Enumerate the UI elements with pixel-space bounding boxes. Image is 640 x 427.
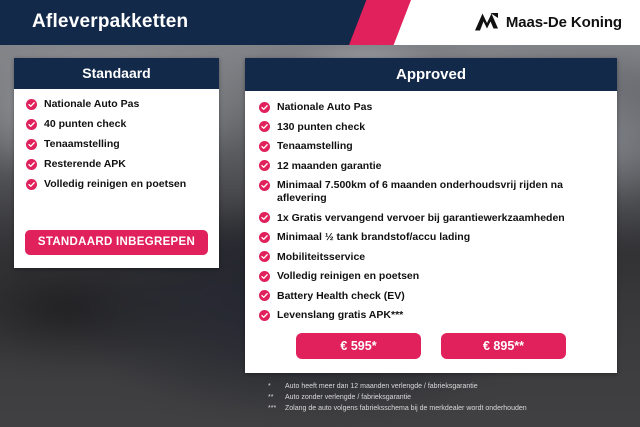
feature-label: 130 punten check	[277, 121, 365, 134]
feature-label: Nationale Auto Pas	[277, 101, 372, 114]
check-circle-icon	[259, 271, 270, 282]
footnotes: * Auto heeft meer dan 12 maanden verleng…	[268, 381, 638, 414]
card-standaard: Standaard Nationale Auto Pas 40 punten c…	[14, 58, 219, 268]
list-item: Resterende APK	[26, 158, 207, 171]
price-button-row: € 595* € 895**	[245, 333, 617, 359]
card-standaard-body: Nationale Auto Pas 40 punten check Tenaa…	[14, 89, 219, 191]
list-item: Tenaamstelling	[259, 140, 605, 153]
list-item: 130 punten check	[259, 121, 605, 134]
footnote-text: Auto heeft meer dan 12 maanden verlengde…	[285, 381, 478, 392]
check-circle-icon	[259, 160, 270, 171]
approved-feature-list: Nationale Auto Pas 130 punten check Tena…	[259, 101, 605, 322]
footnote-text: Auto zonder verlengde / fabrieksgarantie	[285, 392, 411, 403]
check-circle-icon	[259, 141, 270, 152]
card-standaard-title: Standaard	[14, 58, 219, 89]
feature-label: Minimaal ½ tank brandstof/accu lading	[277, 231, 470, 244]
footnote-marker: **	[268, 392, 285, 403]
standaard-feature-list: Nationale Auto Pas 40 punten check Tenaa…	[26, 98, 207, 191]
card-approved: Approved Nationale Auto Pas 130 punten c…	[245, 58, 617, 373]
card-approved-title: Approved	[245, 58, 617, 91]
check-circle-icon	[259, 212, 270, 223]
page-header: Afleverpakketten Maas-De Koning	[0, 0, 640, 45]
check-circle-icon	[26, 119, 37, 130]
check-circle-icon	[259, 290, 270, 301]
check-circle-icon	[259, 121, 270, 132]
feature-label: 12 maanden garantie	[277, 160, 381, 173]
feature-label: Minimaal 7.500km of 6 maanden onderhouds…	[277, 179, 605, 205]
feature-label: Battery Health check (EV)	[277, 290, 405, 303]
footnote-text: Zolang de auto volgens fabrieksschema bi…	[285, 403, 527, 414]
card-approved-body: Nationale Auto Pas 130 punten check Tena…	[245, 91, 617, 322]
page-title: Afleverpakketten	[32, 9, 188, 35]
brand-logo: Maas-De Koning	[474, 0, 622, 45]
footnote-3: *** Zolang de auto volgens fabrieksschem…	[268, 403, 638, 414]
list-item: Tenaamstelling	[26, 138, 207, 151]
list-item: 12 maanden garantie	[259, 160, 605, 173]
feature-label: Tenaamstelling	[44, 138, 120, 151]
feature-label: Resterende APK	[44, 158, 126, 171]
footnote-marker: *	[268, 381, 285, 392]
feature-label: Volledig reinigen en poetsen	[44, 178, 186, 191]
check-circle-icon	[259, 251, 270, 262]
price-button-595[interactable]: € 595*	[296, 333, 421, 359]
check-circle-icon	[26, 99, 37, 110]
footnote-1: * Auto heeft meer dan 12 maanden verleng…	[268, 381, 638, 392]
footnote-2: ** Auto zonder verlengde / fabrieksgaran…	[268, 392, 638, 403]
list-item: Battery Health check (EV)	[259, 290, 605, 303]
list-item: Minimaal 7.500km of 6 maanden onderhouds…	[259, 179, 605, 205]
feature-label: Volledig reinigen en poetsen	[277, 270, 419, 283]
list-item: Mobiliteitsservice	[259, 251, 605, 264]
list-item: Volledig reinigen en poetsen	[259, 270, 605, 283]
check-circle-icon	[26, 159, 37, 170]
list-item: 1x Gratis vervangend vervoer bij garanti…	[259, 212, 605, 225]
feature-label: Mobiliteitsservice	[277, 251, 365, 264]
list-item: Nationale Auto Pas	[26, 98, 207, 111]
brand-name: Maas-De Koning	[506, 14, 622, 31]
feature-label: 40 punten check	[44, 118, 126, 131]
check-circle-icon	[259, 180, 270, 191]
check-circle-icon	[259, 102, 270, 113]
list-item: Nationale Auto Pas	[259, 101, 605, 114]
feature-label: 1x Gratis vervangend vervoer bij garanti…	[277, 212, 565, 225]
list-item: Levenslang gratis APK***	[259, 309, 605, 322]
check-circle-icon	[259, 232, 270, 243]
check-circle-icon	[26, 179, 37, 190]
check-circle-icon	[26, 139, 37, 150]
feature-label: Nationale Auto Pas	[44, 98, 139, 111]
list-item: Volledig reinigen en poetsen	[26, 178, 207, 191]
check-circle-icon	[259, 310, 270, 321]
footnote-marker: ***	[268, 403, 285, 414]
afleverpakketten-page: Afleverpakketten Maas-De Koning Standaar…	[0, 0, 640, 427]
standaard-inbegrepen-button[interactable]: STANDAARD INBEGREPEN	[25, 230, 208, 255]
list-item: 40 punten check	[26, 118, 207, 131]
price-button-895[interactable]: € 895**	[441, 333, 566, 359]
list-item: Minimaal ½ tank brandstof/accu lading	[259, 231, 605, 244]
maas-de-koning-m-logo-icon	[474, 12, 499, 33]
feature-label: Tenaamstelling	[277, 140, 353, 153]
feature-label: Levenslang gratis APK***	[277, 309, 403, 322]
